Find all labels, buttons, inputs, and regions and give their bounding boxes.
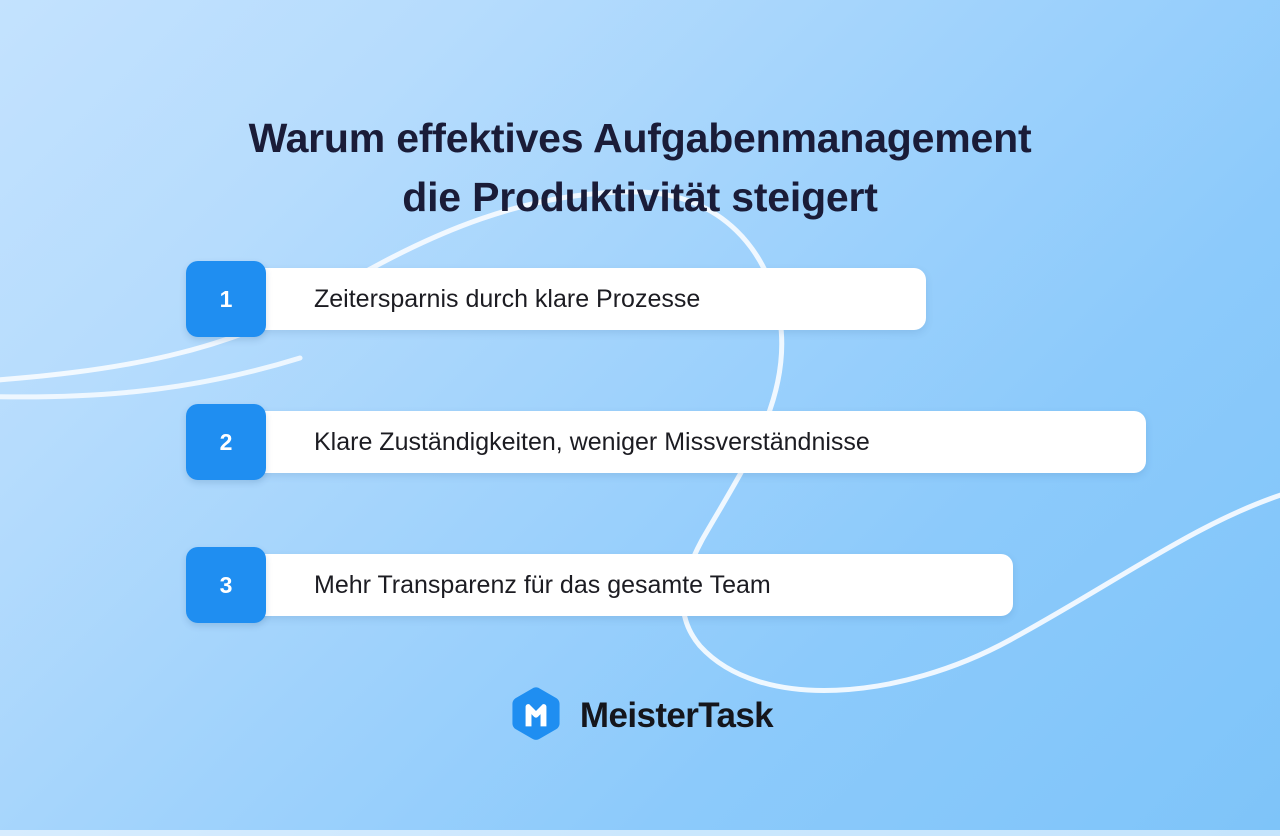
list-item-number-badge: 3 xyxy=(186,547,266,623)
brand-wordmark: MeisterTask xyxy=(580,698,773,733)
list-item[interactable]: 1 Zeitersparnis durch klare Prozesse xyxy=(186,268,926,330)
list-item-number-badge: 1 xyxy=(186,261,266,337)
list-item[interactable]: 2 Klare Zuständigkeiten, weniger Missver… xyxy=(186,411,1146,473)
bottom-edge-strip xyxy=(0,830,1280,836)
list-item-card: Klare Zuständigkeiten, weniger Missverst… xyxy=(250,411,1146,473)
list-item-card: Zeitersparnis durch klare Prozesse xyxy=(250,268,926,330)
list-item-number-badge: 2 xyxy=(186,404,266,480)
list-item[interactable]: 3 Mehr Transparenz für das gesamte Team xyxy=(186,554,1013,616)
list-item-label: Klare Zuständigkeiten, weniger Missverst… xyxy=(250,428,910,457)
list-item-label: Mehr Transparenz für das gesamte Team xyxy=(250,571,811,600)
list-item-label: Zeitersparnis durch klare Prozesse xyxy=(250,285,740,314)
list-item-card: Mehr Transparenz für das gesamte Team xyxy=(250,554,1013,616)
brand-logo: MeisterTask xyxy=(0,686,1280,744)
infographic-canvas: Warum effektives Aufgabenmanagement die … xyxy=(0,0,1280,836)
meistertask-hexagon-m-icon xyxy=(507,686,565,744)
